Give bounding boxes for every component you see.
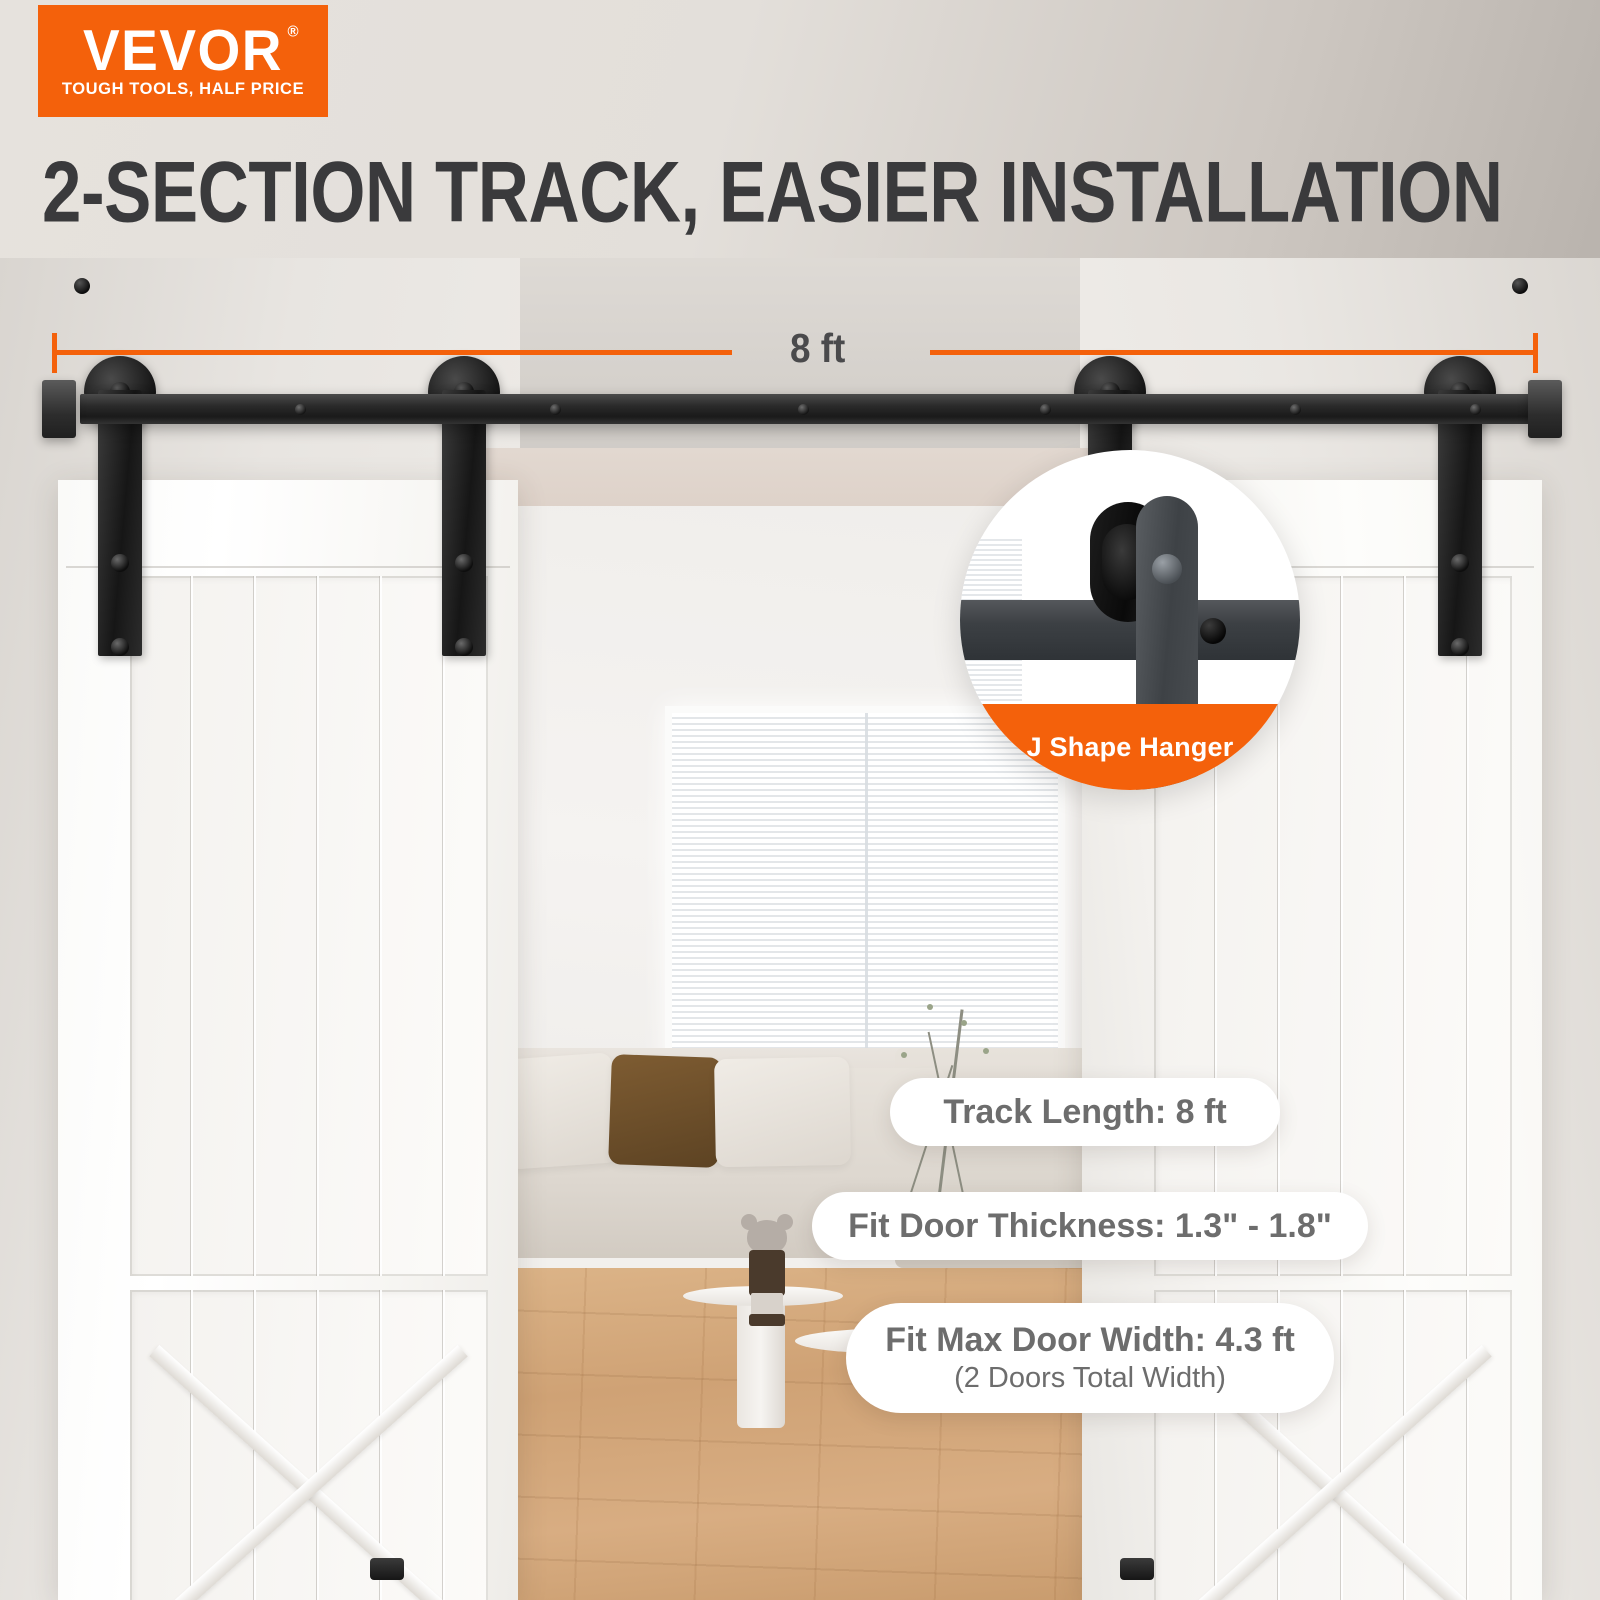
logo-wordmark: VEVOR® <box>83 22 283 80</box>
floor-guide <box>370 1558 404 1580</box>
product-marketing-image: VEVOR® TOUGH TOOLS, HALF PRICE 2-SECTION… <box>0 0 1600 1600</box>
registered-mark-icon: ® <box>287 24 300 40</box>
room-photo <box>0 258 1600 1600</box>
barn-door-track <box>80 394 1530 424</box>
header-band: VEVOR® TOUGH TOOLS, HALF PRICE 2-SECTION… <box>0 0 1600 285</box>
spec-pill-max-door-width: Fit Max Door Width: 4.3 ft (2 Doors Tota… <box>846 1303 1334 1413</box>
track-bolt <box>295 404 306 415</box>
spec-text: Track Length: 8 ft <box>943 1093 1226 1132</box>
plant-leaf <box>901 1052 907 1058</box>
track-end-stop-left <box>42 380 76 438</box>
callout-track-bolt <box>1200 618 1226 644</box>
wall-above-doorway <box>460 258 1160 466</box>
spec-pill-door-thickness: Fit Door Thickness: 1.3" - 1.8" <box>812 1192 1368 1260</box>
door-x-brace <box>130 1290 488 1600</box>
door-planks <box>130 576 488 1276</box>
figurine-body <box>749 1250 785 1296</box>
page-title: 2-SECTION TRACK, EASIER INSTALLATION <box>42 150 1459 236</box>
end-stop-bolt <box>74 278 90 294</box>
cushion <box>714 1057 851 1167</box>
hanger-bolt <box>1451 554 1469 572</box>
hanger-strap <box>442 390 486 656</box>
cushion <box>501 1052 618 1169</box>
plant-leaf <box>927 1004 933 1010</box>
hanger-bolt <box>455 554 473 572</box>
hanger-bolt <box>111 638 129 656</box>
hanger-strap <box>98 390 142 656</box>
callout-axle-bolt <box>1152 554 1182 584</box>
hanger-bolt <box>455 638 473 656</box>
callout-banner-label: J Shape Hanger <box>1027 732 1234 763</box>
figurine-head <box>747 1220 787 1254</box>
track-bolt <box>1290 404 1301 415</box>
track-bolt <box>798 404 809 415</box>
spec-text: Fit Max Door Width: 4.3 ft <box>885 1321 1295 1360</box>
plant-leaf <box>983 1048 989 1054</box>
floor-guide <box>1120 1558 1154 1580</box>
cushion <box>608 1054 722 1168</box>
end-stop-bolt <box>1512 278 1528 294</box>
vevor-logo: VEVOR® TOUGH TOOLS, HALF PRICE <box>38 5 328 117</box>
spec-pill-track-length: Track Length: 8 ft <box>890 1078 1280 1146</box>
track-bolt <box>1470 404 1481 415</box>
hanger-strap <box>1438 390 1482 656</box>
logo-tagline: TOUGH TOOLS, HALF PRICE <box>62 80 304 99</box>
callout-banner: J Shape Hanger <box>960 704 1300 790</box>
logo-text: VEVOR <box>83 17 283 82</box>
track-end-stop-right <box>1528 380 1562 438</box>
door-upper-panel <box>130 576 488 1276</box>
door-lower-panel <box>130 1290 488 1600</box>
hanger-bolt <box>1451 638 1469 656</box>
hanger-bolt <box>111 554 129 572</box>
spec-text: Fit Door Thickness: 1.3" - 1.8" <box>848 1207 1332 1246</box>
track-bolt <box>550 404 561 415</box>
spec-subtext: (2 Doors Total Width) <box>954 1362 1226 1395</box>
plant-leaf <box>961 1020 967 1026</box>
hanger-detail-callout: J Shape Hanger <box>960 450 1300 790</box>
figurine-feet <box>749 1314 785 1326</box>
track-bolt <box>1040 404 1051 415</box>
blind-cord <box>865 713 868 1079</box>
